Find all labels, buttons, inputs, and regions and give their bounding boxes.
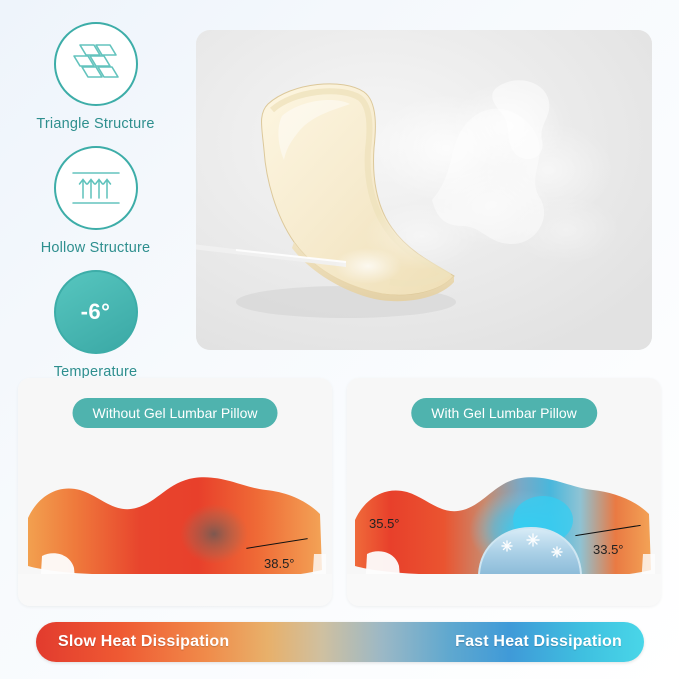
panel-without-gel-pillow: Without Gel Lumbar Pillow [18, 378, 332, 606]
infographic-page: Triangle Structure [0, 0, 679, 679]
panel-title-without: Without Gel Lumbar Pillow [73, 398, 278, 428]
heat-dissipation-legend: Slow Heat Dissipation Fast Heat Dissipat… [36, 622, 644, 662]
gel-lumbar-pillow-photo [196, 30, 652, 350]
legend-label-slow: Slow Heat Dissipation [58, 633, 229, 651]
temperature-value: -6° [81, 299, 111, 325]
feature-label-triangle-structure: Triangle Structure [18, 116, 173, 132]
temperature-badge: -6° [54, 270, 138, 354]
feature-list: Triangle Structure [18, 22, 173, 394]
temp-reading-35-5: 35.5° [369, 516, 400, 531]
triangle-cells-icon [54, 22, 138, 106]
feature-item-temperature: -6° Temperature [18, 270, 173, 380]
feature-label-hollow-structure: Hollow Structure [18, 240, 173, 256]
temp-reading-33-5: 33.5° [593, 542, 624, 557]
up-arrows-airflow-icon [54, 146, 138, 230]
panel-title-with: With Gel Lumbar Pillow [411, 398, 597, 428]
panel-with-gel-pillow: With Gel Lumbar Pillow [347, 378, 661, 606]
comparison-section: Without Gel Lumbar Pillow [18, 378, 661, 616]
temp-reading-38-5: 38.5° [264, 556, 295, 571]
legend-label-fast: Fast Heat Dissipation [455, 633, 622, 651]
feature-item-triangle-structure: Triangle Structure [18, 22, 173, 132]
top-section: Triangle Structure [0, 0, 679, 368]
feature-item-hollow-structure: Hollow Structure [18, 146, 173, 256]
